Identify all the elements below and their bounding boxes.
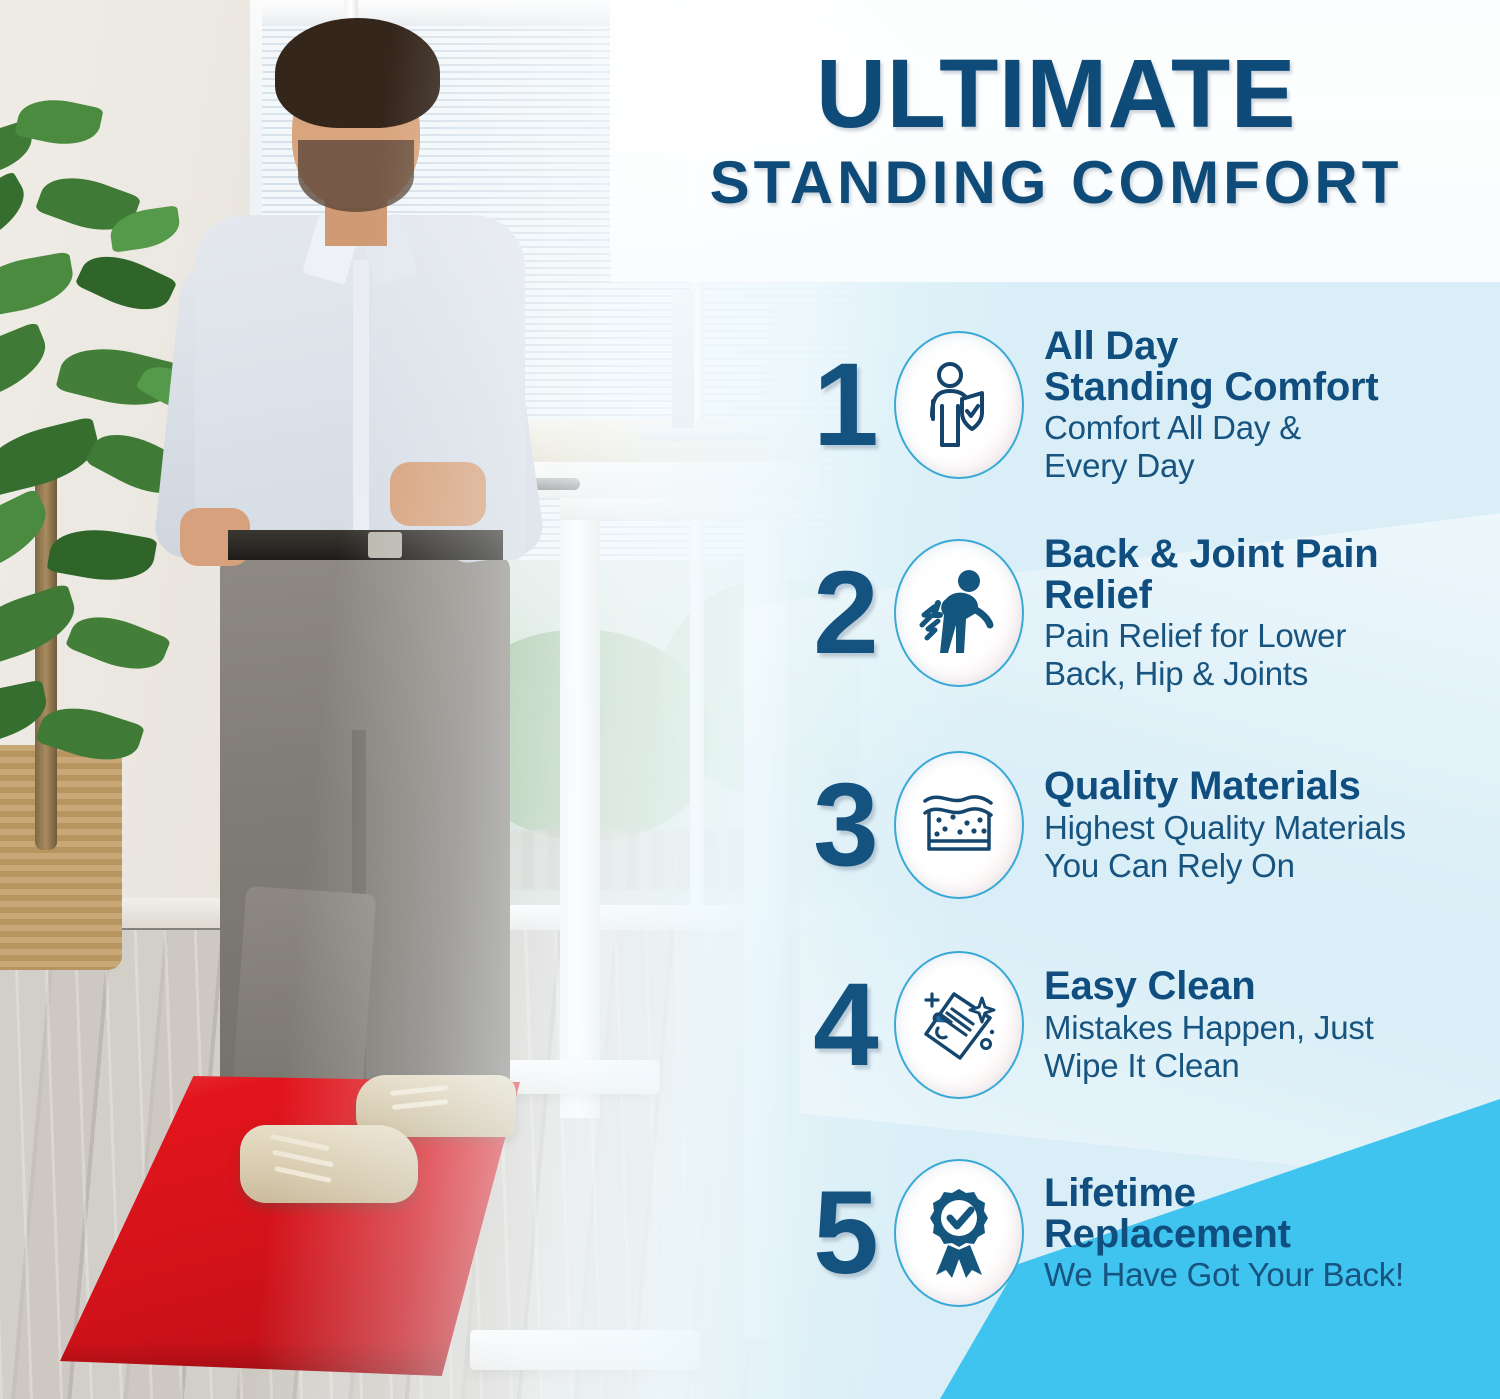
feature-sub-line-1: We Have Got Your Back!: [1044, 1258, 1500, 1293]
desk-leg: [744, 498, 788, 1338]
feature-text: All Day Standing Comfort Comfort All Day…: [1024, 326, 1500, 484]
feature-list: 1 All Day Standing Comfort Comfort All D…: [800, 310, 1500, 1370]
laptop-screen: [672, 290, 694, 441]
infographic-root: ULTIMATE STANDING COMFORT 1 All Day: [0, 0, 1500, 1399]
feature-number: 3: [800, 766, 892, 884]
feature-text: Easy Clean Mistakes Happen, Just Wipe It…: [1024, 966, 1500, 1083]
feature-heading-line-1: Easy Clean: [1044, 966, 1500, 1007]
feature-icon-badge: [894, 951, 1024, 1099]
person-shield-icon: [920, 361, 998, 449]
feature-sub-line-1: Comfort All Day &: [1044, 411, 1500, 446]
page-title: ULTIMATE STANDING COMFORT: [612, 46, 1500, 276]
feature-item-5: 5 Lifetime Replacement We Have Got Your …: [800, 1138, 1500, 1328]
desk-foot: [470, 1330, 700, 1370]
feature-heading-line-1: Lifetime: [1044, 1173, 1500, 1214]
feature-sub-line-1: Mistakes Happen, Just: [1044, 1011, 1500, 1046]
feature-sub-line-2: Back, Hip & Joints: [1044, 657, 1500, 692]
feature-number: 2: [800, 554, 892, 672]
feature-icon-badge: [894, 1159, 1024, 1307]
feature-icon-badge: [894, 751, 1024, 899]
title-line-2: STANDING COMFORT: [612, 151, 1500, 214]
feature-heading-line-1: Back & Joint Pain: [1044, 534, 1500, 575]
feature-number: 4: [800, 966, 892, 1084]
feature-text: Back & Joint Pain Relief Pain Relief for…: [1024, 534, 1500, 692]
feature-heading-line-1: Quality Materials: [1044, 766, 1500, 807]
feature-number: 1: [800, 346, 892, 464]
feature-sub-line-1: Pain Relief for Lower: [1044, 619, 1500, 654]
foam-layers-icon: [917, 787, 1001, 863]
feature-item-4: 4 Easy Clean Mistakes Happ: [800, 930, 1500, 1120]
feature-text: Lifetime Replacement We Have Got Your Ba…: [1024, 1173, 1500, 1293]
feature-heading-line-1: All Day: [1044, 326, 1500, 367]
feature-sub-line-1: Highest Quality Materials: [1044, 811, 1500, 846]
award-ribbon-check-icon: [918, 1187, 1000, 1279]
hand-wipe-cloth-icon: [916, 982, 1002, 1068]
feature-heading-line-2: Relief: [1044, 575, 1500, 616]
feature-item-3: 3: [800, 730, 1500, 920]
back-pain-person-icon: [918, 569, 1000, 657]
title-line-1: ULTIMATE: [612, 46, 1500, 141]
feature-heading-line-2: Standing Comfort: [1044, 367, 1500, 408]
feature-heading-line-2: Replacement: [1044, 1214, 1500, 1255]
feature-sub-line-2: Every Day: [1044, 449, 1500, 484]
feature-sub-line-2: Wipe It Clean: [1044, 1049, 1500, 1084]
feature-item-1: 1 All Day Standing Comfort Comfort All D…: [800, 310, 1500, 500]
feature-icon-badge: [894, 331, 1024, 479]
laptop-base: [640, 428, 770, 440]
desk-beam: [560, 498, 790, 520]
feature-item-2: 2 Back & Joint Pain Relief Pain Relief f…: [800, 518, 1500, 708]
feature-sub-line-2: You Can Rely On: [1044, 849, 1500, 884]
desk-leg: [560, 498, 600, 1118]
feature-text: Quality Materials Highest Quality Materi…: [1024, 766, 1500, 883]
feature-number: 5: [800, 1174, 892, 1292]
feature-icon-badge: [894, 539, 1024, 687]
person-feet: [120, 10, 550, 1250]
